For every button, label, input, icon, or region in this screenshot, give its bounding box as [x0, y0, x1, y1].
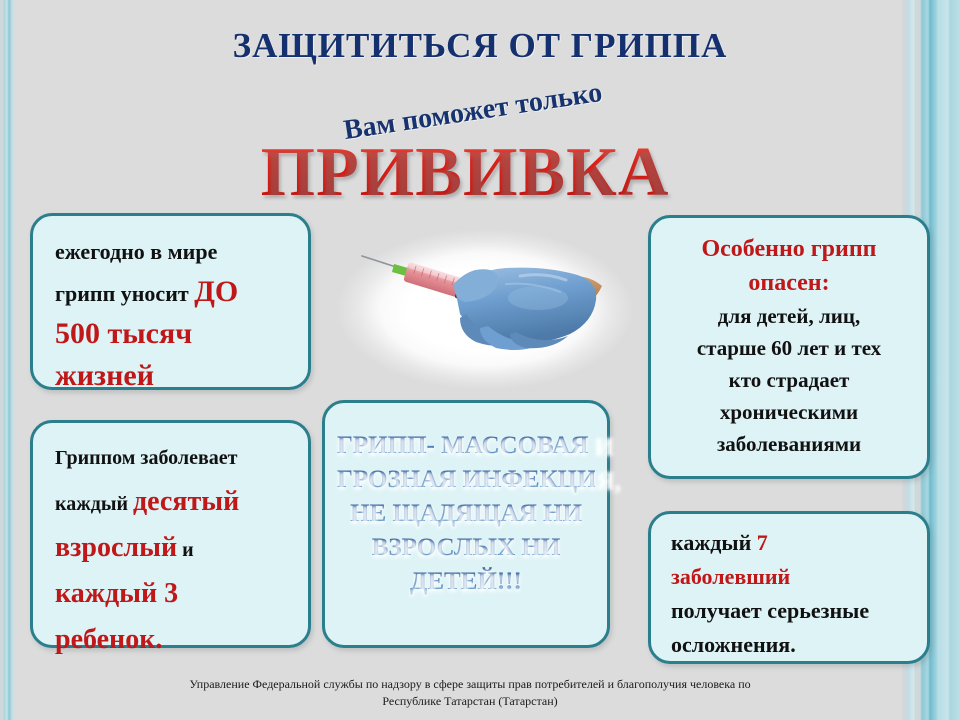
mass-infection-line-4: ВЗРОСЛЫХ НИ — [337, 531, 595, 565]
poster-keyword: ПРИВИВКА — [0, 136, 930, 210]
at-risk-heading-line-1: Особенно грипп — [663, 232, 915, 266]
at-risk-heading-line-2: опасен: — [663, 266, 915, 300]
at-risk-body-line-3: кто страдает — [663, 364, 915, 396]
complications-line-4: осложнения. — [663, 628, 915, 662]
incidence-line-4: каждый 3 — [45, 572, 296, 618]
mass-infection-line-2: ГРОЗНАЯ ИНФЕКЦИЯ, — [337, 463, 595, 497]
footer-attribution: Управление Федеральной службы по надзору… — [30, 676, 910, 710]
annual-deaths-box: ежегодно в мире грипп уносит ДО 500 тыся… — [30, 213, 311, 390]
annual-deaths-line-3: 500 тысяч — [45, 314, 296, 356]
incidence-line-5: ребенок. — [45, 618, 296, 664]
complications-line-3: получает серьезные — [663, 594, 915, 628]
annual-deaths-line-1: ежегодно в мире — [45, 232, 296, 272]
complications-line-2: заболевший — [663, 560, 915, 594]
incidence-box: Гриппом заболевает каждый десятый взросл… — [30, 420, 311, 648]
complications-box: каждый 7 заболевший получает серьезные о… — [648, 511, 930, 664]
mass-infection-line-5: ДЕТЕЙ!!! — [337, 565, 595, 599]
at-risk-box: Особенно грипп опасен: для детей, лиц, с… — [648, 215, 930, 479]
incidence-line-2: каждый десятый — [45, 480, 296, 526]
poster-title: ЗАЩИТИТЬСЯ ОТ ГРИППА — [0, 26, 960, 66]
at-risk-body-line-4: хроническими — [663, 396, 915, 428]
annual-deaths-line-4: жизней — [45, 356, 296, 398]
incidence-line-1: Гриппом заболевает — [45, 437, 296, 480]
at-risk-body-line-1: для детей, лиц, — [663, 300, 915, 332]
complications-line-1: каждый 7 — [663, 526, 915, 560]
gloved-hand-with-syringe-icon — [330, 222, 640, 402]
mass-infection-line-1: ГРИПП- МАССОВАЯ И — [337, 429, 595, 463]
footer-line-1: Управление Федеральной службы по надзору… — [30, 676, 910, 693]
at-risk-body-line-5: заболеваниями — [663, 428, 915, 460]
flu-vaccination-poster: ЗАЩИТИТЬСЯ ОТ ГРИППА Вам поможет только … — [0, 0, 960, 720]
annual-deaths-line-2: грипп уносит ДО — [45, 272, 296, 314]
syringe-illustration — [330, 222, 640, 402]
footer-line-2: Республике Татарстан (Татарстан) — [30, 693, 910, 710]
left-border-stripe — [0, 0, 22, 720]
incidence-line-3: взрослый и — [45, 526, 296, 572]
mass-infection-line-3: НЕ ЩАДЯЩАЯ НИ — [337, 497, 595, 531]
mass-infection-box: ГРИПП- МАССОВАЯ И ГРОЗНАЯ ИНФЕКЦИЯ, НЕ Щ… — [322, 400, 610, 648]
at-risk-body-line-2: старше 60 лет и тех — [663, 332, 915, 364]
